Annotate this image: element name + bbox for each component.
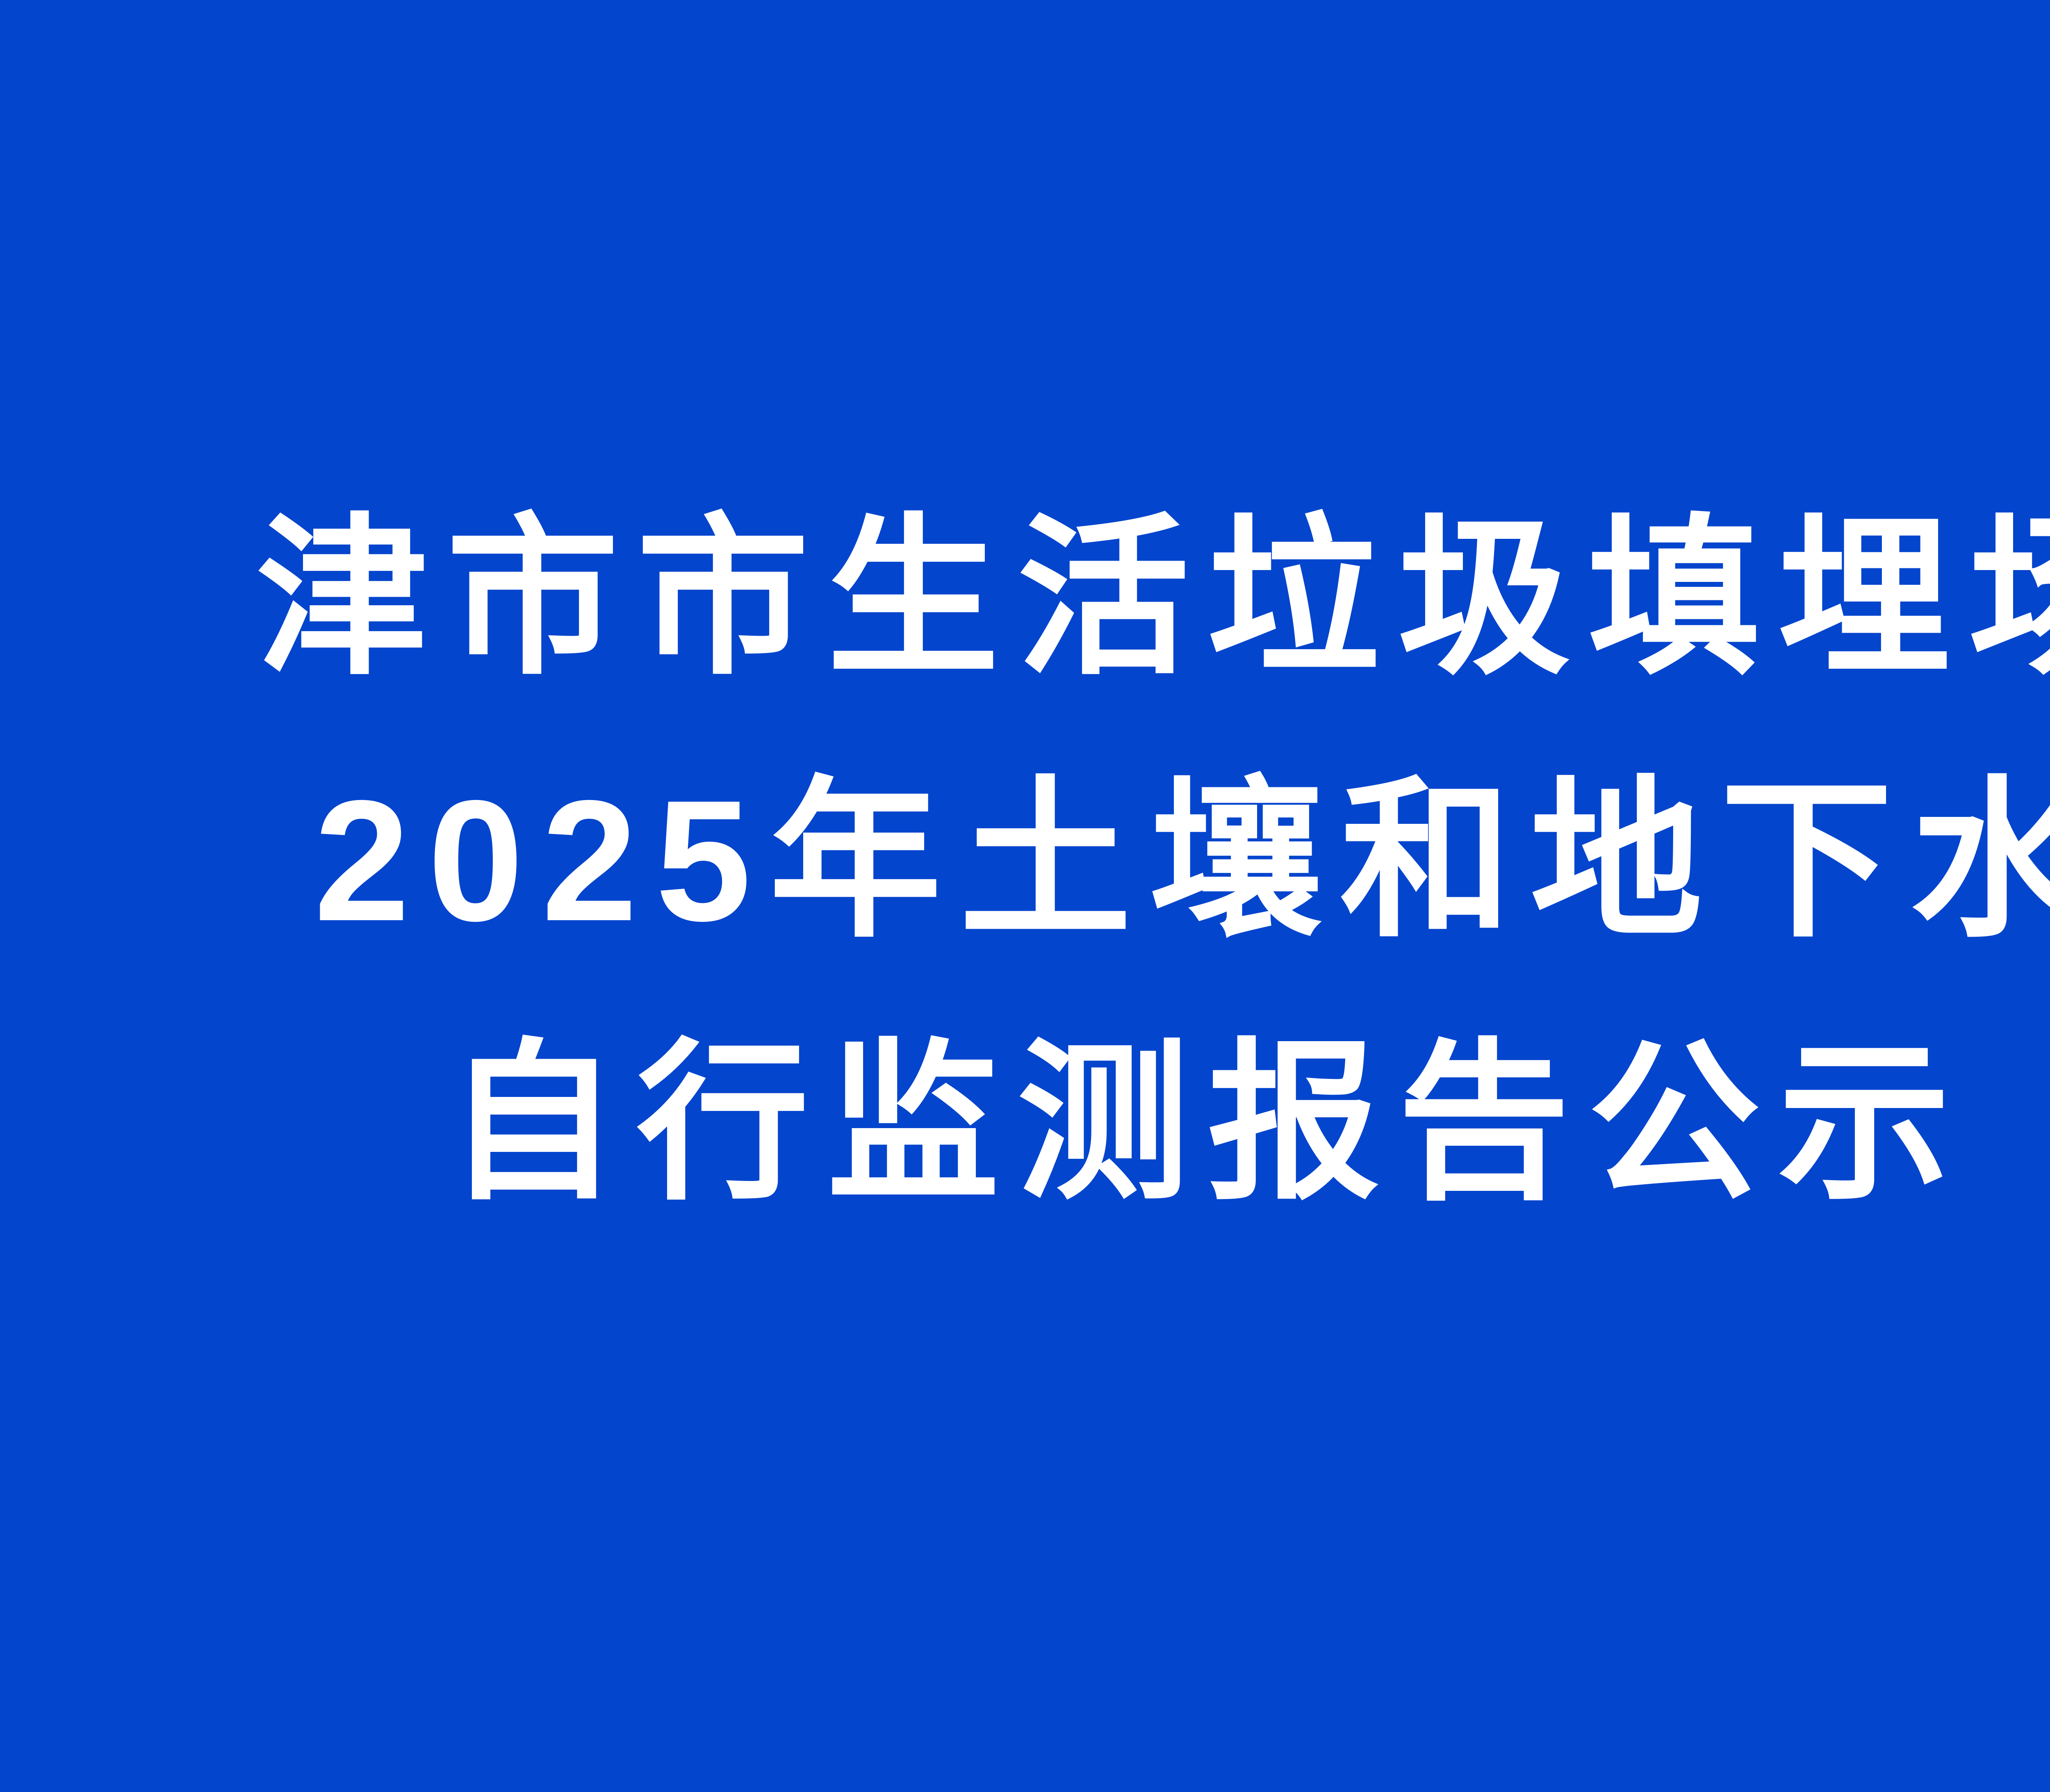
headline-block: 津市市生活垃圾填埋场 2025年土壤和地下水 自行监测报告公示 bbox=[0, 513, 2050, 1210]
headline-line-1: 津市市生活垃圾填埋场 bbox=[0, 513, 2050, 685]
headline-line-2: 2025年土壤和地下水 bbox=[0, 775, 2050, 947]
headline-line-3: 自行监测报告公示 bbox=[0, 1037, 2050, 1210]
announcement-poster: 津市市生活垃圾填埋场 2025年土壤和地下水 自行监测报告公示 bbox=[0, 0, 2050, 1792]
